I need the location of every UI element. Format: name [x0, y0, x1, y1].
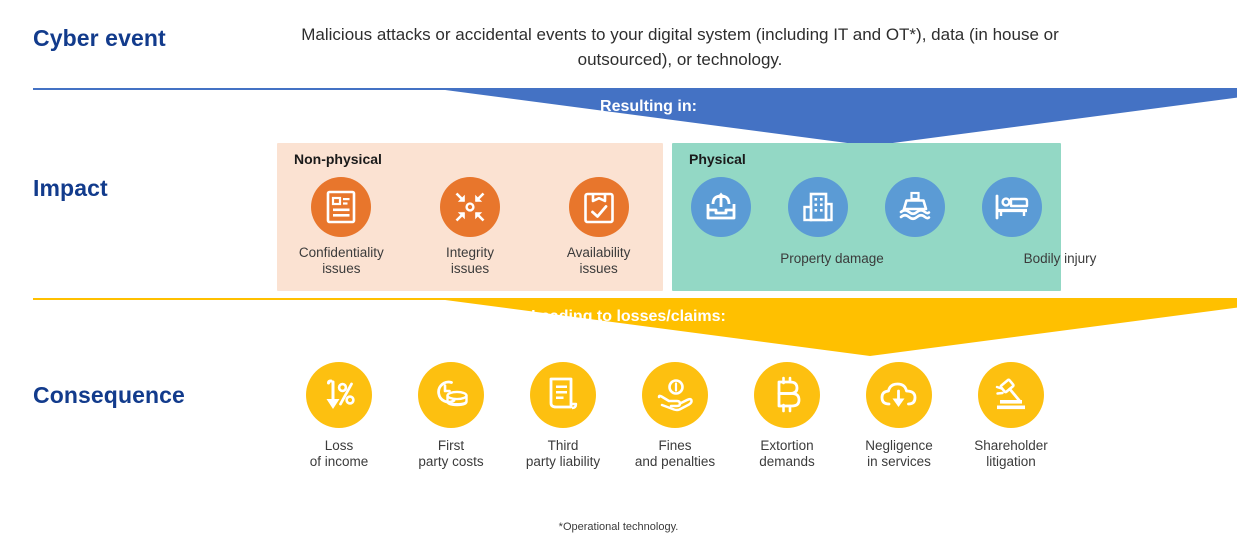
consequence-label-line2: and penalties: [635, 454, 715, 470]
impact-label-line2: issues: [446, 261, 494, 277]
impact-item-property-damage-building[interactable]: [769, 177, 866, 237]
non-physical-icon-row: Confidentiality issues: [277, 177, 663, 277]
consequence-label-line2: party liability: [526, 454, 600, 470]
cyber-event-description: Malicious attacks or accidental events t…: [285, 22, 1075, 72]
consequence-label-line2: demands: [759, 454, 815, 470]
connector-band-resulting-in: Resulting in:: [0, 88, 1237, 150]
consequence-item-label: Fines and penalties: [635, 438, 715, 470]
consequence-item-label: Extortion demands: [759, 438, 815, 470]
impact-item-confidentiality[interactable]: Confidentiality issues: [282, 177, 400, 277]
consequence-item-fines-and-penalties[interactable]: Fines and penalties: [619, 362, 731, 470]
consequence-label-line1: Extortion: [759, 438, 815, 454]
consequence-item-label: Shareholder litigation: [974, 438, 1048, 470]
clipboard-check-icon: [569, 177, 629, 237]
consequence-label-line2: litigation: [974, 454, 1048, 470]
document-id-card-icon: [311, 177, 371, 237]
row-label-impact: Impact: [33, 175, 108, 202]
ship-icon: [885, 177, 945, 237]
connector-band-leading-to: Leading to losses/claims:: [0, 298, 1237, 360]
impact-item-property-damage-inbox[interactable]: [672, 177, 769, 237]
impact-label-line2: issues: [567, 261, 631, 277]
hospital-bed-icon: [982, 177, 1042, 237]
consequence-item-extortion-demands[interactable]: Extortion demands: [731, 362, 843, 470]
impact-panel-physical: Physical: [672, 143, 1061, 291]
down-arrow-blue-icon: [430, 88, 1237, 146]
consequence-item-loss-of-income[interactable]: Loss of income: [283, 362, 395, 470]
physical-captions: Property damage Bodily injury: [672, 251, 1061, 271]
physical-caption-bodily-injury: Bodily injury: [930, 251, 1190, 267]
consequence-item-third-party-liability[interactable]: Third party liability: [507, 362, 619, 470]
hand-coin-icon: [642, 362, 708, 428]
legal-document-icon: [530, 362, 596, 428]
consequence-label-line1: Fines: [635, 438, 715, 454]
arrows-converging-icon: [440, 177, 500, 237]
impact-item-bodily-injury-bed[interactable]: [964, 177, 1061, 237]
impact-label-line1: Confidentiality: [299, 245, 384, 261]
consequence-label-line1: First: [418, 438, 483, 454]
consequence-row: Loss of income First party costs: [283, 362, 1067, 470]
consequence-item-label: First party costs: [418, 438, 483, 470]
impact-label-line2: issues: [299, 261, 384, 277]
consequence-label-line2: of income: [310, 454, 369, 470]
consequence-label-line1: Loss: [310, 438, 369, 454]
row-label-cyber-event: Cyber event: [33, 25, 166, 52]
cloud-download-icon: [866, 362, 932, 428]
row-label-consequence: Consequence: [33, 382, 185, 409]
panel-title-non-physical: Non-physical: [294, 151, 382, 167]
impact-item-property-damage-ship[interactable]: [867, 177, 964, 237]
consequence-label-line1: Shareholder: [974, 438, 1048, 454]
arrow-down-percent-icon: [306, 362, 372, 428]
consequence-item-shareholder-litigation[interactable]: Shareholder litigation: [955, 362, 1067, 470]
down-arrow-yellow-icon: [430, 298, 1237, 356]
inbox-up-arrow-icon: [691, 177, 751, 237]
bitcoin-icon: [754, 362, 820, 428]
impact-item-label: Availability issues: [567, 245, 631, 277]
consequence-item-negligence-in-services[interactable]: Negligence in services: [843, 362, 955, 470]
consequence-item-first-party-costs[interactable]: First party costs: [395, 362, 507, 470]
footnote: *Operational technology.: [0, 521, 1237, 533]
impact-label-line1: Availability: [567, 245, 631, 261]
impact-item-label: Confidentiality issues: [299, 245, 384, 277]
impact-item-label: Integrity issues: [446, 245, 494, 277]
consequence-label-line2: party costs: [418, 454, 483, 470]
consequence-item-label: Negligence in services: [865, 438, 933, 470]
office-building-icon: [788, 177, 848, 237]
impact-item-integrity[interactable]: Integrity issues: [411, 177, 529, 277]
consequence-label-line1: Negligence: [865, 438, 933, 454]
physical-icon-row: [672, 177, 1061, 237]
consequence-item-label: Third party liability: [526, 438, 600, 470]
consequence-label-line2: in services: [865, 454, 933, 470]
gavel-icon: [978, 362, 1044, 428]
consequence-label-line1: Third: [526, 438, 600, 454]
panel-title-physical: Physical: [689, 151, 746, 167]
clock-coins-icon: [418, 362, 484, 428]
impact-label-line1: Integrity: [446, 245, 494, 261]
impact-item-availability[interactable]: Availability issues: [540, 177, 658, 277]
impact-panel-non-physical: Non-physical Confidentiality issues: [277, 143, 663, 291]
consequence-item-label: Loss of income: [310, 438, 369, 470]
